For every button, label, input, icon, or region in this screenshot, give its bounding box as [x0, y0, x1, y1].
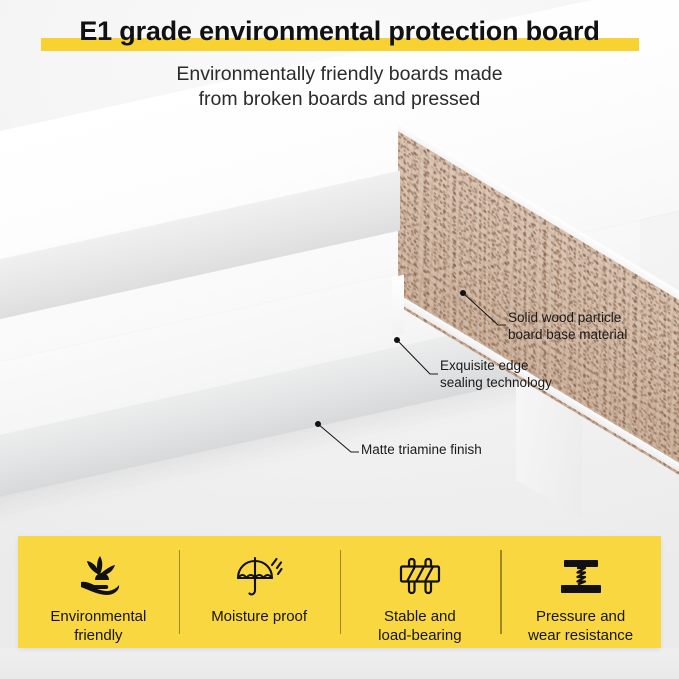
- feature-label: Pressure and wear resistance: [528, 607, 633, 645]
- feature-label: Moisture proof: [211, 607, 307, 626]
- subtitle-line-2: from broken boards and pressed: [0, 87, 679, 112]
- title-wrap: E1 grade environmental protection board: [0, 14, 679, 52]
- plant-in-hand-icon: [73, 549, 123, 605]
- bottom-edge: [0, 648, 679, 679]
- press-compression-icon: [556, 549, 606, 605]
- header: E1 grade environmental protection board …: [0, 0, 679, 118]
- subtitle: Environmentally friendly boards made fro…: [0, 62, 679, 112]
- board-top-corner: [392, 275, 404, 336]
- feature-stable-load-bearing: Stable and load-bearing: [340, 536, 501, 648]
- infographic-page: E1 grade environmental protection board …: [0, 0, 679, 679]
- product-image: [0, 118, 679, 528]
- feature-bar: Environmental friendly Mo: [18, 536, 661, 648]
- subtitle-line-1: Environmentally friendly boards made: [0, 62, 679, 87]
- umbrella-rain-icon: [234, 549, 284, 605]
- feature-label: Environmental friendly: [50, 607, 146, 645]
- feature-pressure-wear-resistance: Pressure and wear resistance: [500, 536, 661, 648]
- barrier-icon: [395, 549, 445, 605]
- page-title: E1 grade environmental protection board: [0, 14, 679, 48]
- feature-moisture-proof: Moisture proof: [179, 536, 340, 648]
- feature-environmental-friendly: Environmental friendly: [18, 536, 179, 648]
- feature-label: Stable and load-bearing: [378, 607, 461, 645]
